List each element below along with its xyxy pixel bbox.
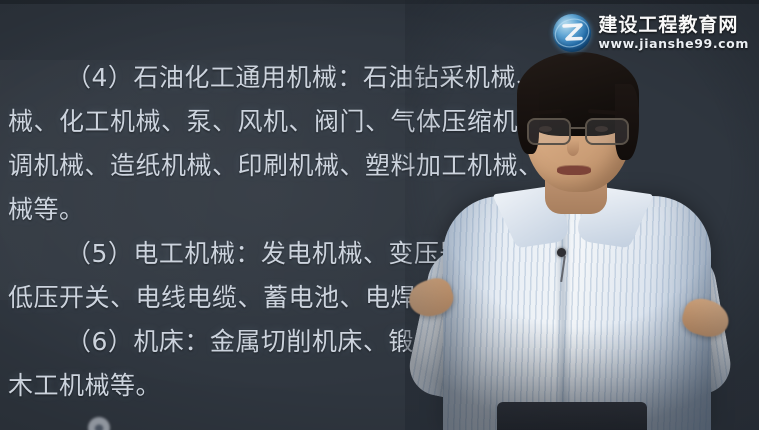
presenter-edge-blend [405,0,759,430]
circle-button-glyph: ● [94,422,104,430]
watermark-url: www.jianshe99.com [598,38,749,51]
watermark-texts: 建设工程教育网 www.jianshe99.com [598,16,749,51]
presenter-figure [405,0,759,430]
logo-z-badge-icon [553,14,591,52]
video-player-frame: （4）石油化工通用机械：石油钻采机械、炼油机 械、化工机械、泵、风机、阀门、气体… [0,0,759,430]
watermark-brand-name: 建设工程教育网 [598,16,749,35]
channel-watermark: 建设工程教育网 www.jianshe99.com [553,14,749,52]
presenter [405,0,759,430]
